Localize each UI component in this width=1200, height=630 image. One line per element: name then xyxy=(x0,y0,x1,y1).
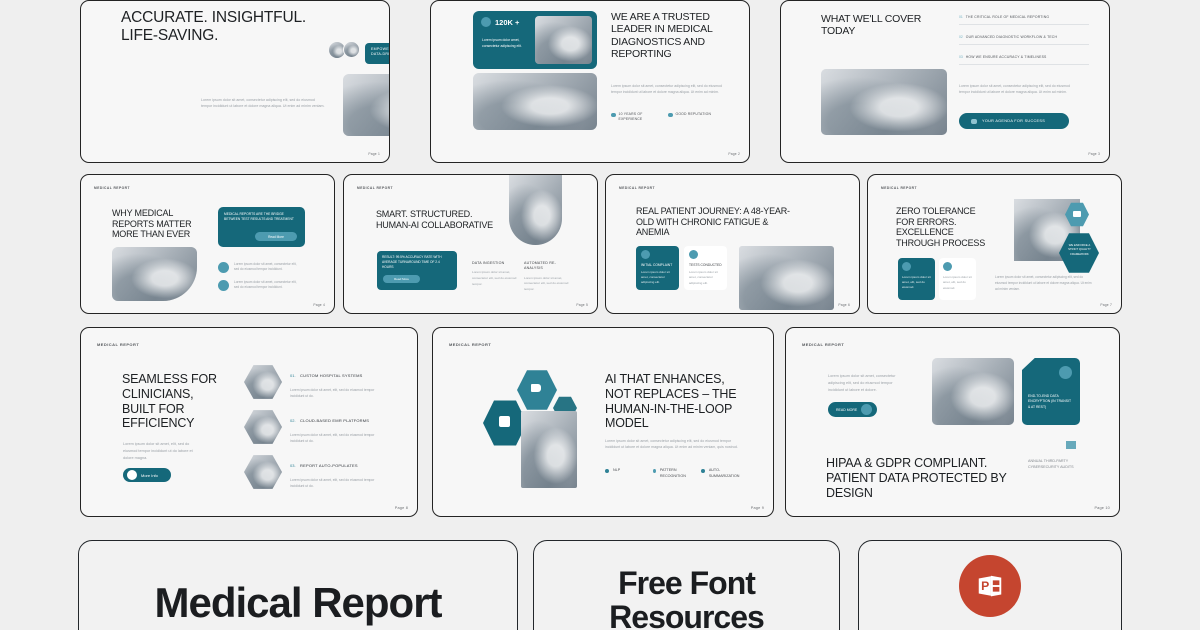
slide-5-page-number: Page 5 xyxy=(576,303,588,307)
slide-9-title: AI THAT ENHANCES, NOT REPLACES – THE HUM… xyxy=(605,372,740,431)
slide-3-agenda-label-1: THE CRITICAL ROLE OF MEDICAL REPORTING xyxy=(966,15,1049,19)
slide-8-feature-3-num: 03. xyxy=(290,463,296,468)
slide-7-hex-label: WE ENFORCE A STRICT QUALITY FRAMEWORK xyxy=(1067,243,1092,256)
slide-6-title: REAL PATIENT JOURNEY: A 48-YEAR-OLD WITH… xyxy=(636,206,801,238)
slide-4-bullet-1-text: Lorem ipsum dolor sit amet, consectetur … xyxy=(234,262,300,273)
slide-4-card-button[interactable]: Read More xyxy=(255,232,297,241)
slide-3-agenda-item-1[interactable]: 01 THE CRITICAL ROLE OF MEDICAL REPORTIN… xyxy=(959,15,1089,25)
slide-10-shape xyxy=(1022,358,1080,425)
slide-8-feature-2-image xyxy=(244,409,282,445)
slide-8-feature-3-label: REPORT AUTO-POPULATES xyxy=(300,463,358,468)
slide-card-1[interactable]: ACCURATE. INSIGHTFUL. LIFE-SAVING. EMPOW… xyxy=(80,0,390,163)
slide-card-8[interactable]: MEDICAL REPORT SEAMLESS FOR CLINICIANS, … xyxy=(80,327,418,517)
slide-1-avatar-2 xyxy=(343,41,360,58)
slide-2-tag-1-label: 10 YEARS OF EXPERIENCE xyxy=(619,112,659,123)
slide-4-card-button-label: Read More xyxy=(268,235,284,239)
slide-6-card-2-text: Lorem ipsum dolor sit amet, consectetur … xyxy=(689,270,722,286)
slide-8-body: Lorem ipsum dolor sit amet, elit, sed do… xyxy=(123,441,203,461)
slide-card-4[interactable]: MEDICAL REPORT WHY MEDICAL REPORTS MATTE… xyxy=(80,174,335,314)
slide-6-card-2-heading: TESTS CONDUCTED xyxy=(689,263,722,267)
slide-5-kicker: MEDICAL REPORT xyxy=(357,186,393,190)
slide-3-divider-1 xyxy=(959,24,1089,25)
slide-10-read-more-label: READ MORE xyxy=(836,408,857,412)
slide-2-photo-1 xyxy=(535,16,592,64)
slide-10-page-number: Page 10 xyxy=(1094,506,1110,510)
slide-8-title: SEAMLESS FOR CLINICIANS, BUILT FOR EFFIC… xyxy=(122,372,226,431)
slide-9-kicker: MEDICAL REPORT xyxy=(449,342,491,347)
slide-2-tag-1: 10 YEARS OF EXPERIENCE xyxy=(611,112,659,123)
slide-8-feature-1-label: CUSTOM HOSPITAL SYSTEMS xyxy=(300,373,363,378)
slide-4-page-number: Page 4 xyxy=(313,303,325,307)
slide-10-body: Lorem ipsum dolor sit amet, consectetur … xyxy=(828,373,902,393)
slide-card-6[interactable]: MEDICAL REPORT REAL PATIENT JOURNEY: A 4… xyxy=(605,174,860,314)
slide-6-page-number: Page 6 xyxy=(838,303,850,307)
slide-2-body: Lorem ipsum dolor sit amet, consectetur … xyxy=(611,83,726,96)
slide-card-5[interactable]: MEDICAL REPORT SMART. STRUCTURED. HUMAN-… xyxy=(343,174,598,314)
slide-9-photo xyxy=(521,411,577,488)
slide-4-card-text: MEDICAL REPORTS ARE THE BRIDGE BETWEEN T… xyxy=(224,212,296,223)
slide-7-card-1-icon xyxy=(902,262,911,271)
slide-1-badge-label: EMPOWERING HEALTHCARE THROUGH DATA-DRIVE… xyxy=(371,47,390,57)
slide-9-body: Lorem ipsum dolor sit amet, consectetur … xyxy=(605,438,738,451)
slide-4-kicker: MEDICAL REPORT xyxy=(94,186,130,190)
lock-icon xyxy=(1059,366,1072,379)
slide-10-shape-label: END-TO-END DATA ENCRYPTION (IN TRANSIT &… xyxy=(1028,394,1074,410)
slide-7-card-1-text: Lorem ipsum dolor sit amet, elit, sed do… xyxy=(902,275,931,290)
slide-3-page-number: Page 3 xyxy=(1088,152,1100,156)
stethoscope-icon xyxy=(218,280,229,291)
slide-8-feature-1: 01. CUSTOM HOSPITAL SYSTEMS Lorem ipsum … xyxy=(244,364,378,400)
slide-10-side-label: ANNUAL THIRD-PARTY CYBERSECURITY AUDITS xyxy=(1028,458,1076,471)
slide-5-column-2-heading: AUTOMATED RE-ANALYSIS xyxy=(524,261,572,272)
slide-8-feature-2-num: 02. xyxy=(290,418,296,423)
slide-9-bullet-2-label: PATTERN RECOGNITION xyxy=(660,468,691,479)
slide-card-7[interactable]: MEDICAL REPORT ZERO TOLERANCE FOR ERRORS… xyxy=(867,174,1122,314)
promo-title-medical-report: Medical Report xyxy=(154,581,441,626)
slide-10-kicker: MEDICAL REPORT xyxy=(802,342,844,347)
slide-3-photo xyxy=(821,69,947,135)
slide-5-title: SMART. STRUCTURED. HUMAN-AI COLLABORATIV… xyxy=(376,209,496,230)
slide-8-feature-2-label: CLOUD-BASED EMR PLATFORMS xyxy=(300,418,369,423)
slide-10-photo xyxy=(932,358,1014,425)
slide-9-bullet-3-dot xyxy=(701,469,705,473)
slide-3-agenda-num-1: 01 xyxy=(959,15,963,19)
slide-5-column-2-text: Lorem ipsum dolor sit amet, consectetur … xyxy=(524,276,572,293)
slide-3-divider-2 xyxy=(959,44,1089,45)
slide-4-bullet-2-text: Lorem ipsum dolor sit amet, consectetur … xyxy=(234,280,300,291)
slide-10-read-more-button[interactable]: READ MORE xyxy=(828,402,877,417)
slide-2-tag-2-label: GOOD REPUTATION xyxy=(676,112,726,117)
slide-8-feature-1-image xyxy=(244,364,282,400)
slide-6-card-1-heading: INITIAL COMPLAINT xyxy=(641,263,672,267)
play-circle-icon xyxy=(861,404,872,415)
slide-5-column-2: AUTOMATED RE-ANALYSIS Lorem ipsum dolor … xyxy=(524,261,572,292)
promo-title-free-fonts: Free Font Resources xyxy=(572,567,802,630)
slide-7-kicker: MEDICAL REPORT xyxy=(881,186,917,190)
slide-9-bullet-2-dot xyxy=(653,469,656,473)
slide-1-title: ACCURATE. INSIGHTFUL. LIFE-SAVING. xyxy=(121,9,311,46)
slide-1-body: Lorem ipsum dolor sit amet, consectetur … xyxy=(201,97,326,110)
promo-card-powerpoint[interactable]: P Powerpoint xyxy=(858,540,1122,630)
folder-icon xyxy=(1073,211,1081,217)
slide-card-2[interactable]: 120K + Lorem ipsum dolor amet, consectet… xyxy=(430,0,750,163)
slide-8-kicker: MEDICAL REPORT xyxy=(97,342,139,347)
slide-8-feature-3-text: Lorem ipsum dolor sit amet, elit, sed do… xyxy=(290,477,378,489)
slide-5-photo xyxy=(509,175,562,245)
slide-1-photo xyxy=(343,74,390,136)
clipboard-icon xyxy=(218,262,229,273)
slide-8-page-number: Page 8 xyxy=(395,506,408,510)
slide-9-page-number: Page 9 xyxy=(751,506,764,510)
slide-3-agenda-label-2: OUR ADVANCED DIAGNOSTIC WORKFLOW & TECH xyxy=(966,35,1057,39)
slide-7-title: ZERO TOLERANCE FOR ERRORS. EXCELLENCE TH… xyxy=(896,206,992,248)
slide-6-card-1-text: Lorem ipsum dolor sit amet, consectetur … xyxy=(641,270,674,285)
slide-3-cta-button[interactable]: YOUR AGENDA FOR SUCCESS xyxy=(959,113,1069,129)
slide-6-kicker: MEDICAL REPORT xyxy=(619,186,655,190)
slide-3-agenda-label-3: HOW WE ENSURE ACCURACY & TIMELINESS xyxy=(966,55,1047,59)
slide-9-bullet-1-dot xyxy=(605,469,609,473)
slide-2-stat-caption: Lorem ipsum dolor amet, consectetur adip… xyxy=(482,37,530,50)
slide-7-card-2-text: Lorem ipsum dolor sit amet, elit, sed do… xyxy=(943,275,972,291)
chat-icon xyxy=(971,119,977,124)
slide-2-stat-value: 120K + xyxy=(495,18,519,27)
slide-9-bullets: NLP PATTERN RECOGNITION AUTO-SUMMARIZATI… xyxy=(605,468,749,479)
slide-3-body: Lorem ipsum dolor sit amet, consectetur … xyxy=(959,83,1071,96)
slide-3-agenda-item-2[interactable]: 02 OUR ADVANCED DIAGNOSTIC WORKFLOW & TE… xyxy=(959,35,1089,45)
slide-card-9[interactable]: MEDICAL REPORT AI THAT ENHANCES, NOT REP… xyxy=(432,327,774,517)
slide-8-feature-2: 02. CLOUD-BASED EMR PLATFORMS Lorem ipsu… xyxy=(244,409,378,445)
slide-6-photo xyxy=(739,246,834,310)
slide-9-bullet-1-label: NLP xyxy=(613,468,620,479)
slide-2-photo-2 xyxy=(473,73,597,130)
slide-7-body: Lorem ipsum dolor sit amet, consectetur … xyxy=(995,275,1095,292)
chart-icon xyxy=(1066,441,1076,449)
slide-8-feature-3: 03. REPORT AUTO-POPULATES Lorem ipsum do… xyxy=(244,454,378,490)
slide-5-card-text: RESULT: 99.5% ACCURACY RATE WITH AVERAGE… xyxy=(382,255,450,270)
slide-10-title: HIPAA & GDPR COMPLIANT. PATIENT DATA PRO… xyxy=(826,456,1016,500)
play-icon xyxy=(127,470,137,480)
slide-2-tag-2-dot xyxy=(668,113,673,118)
slide-7-card-2-icon xyxy=(943,262,952,271)
slide-4-bullet-1: Lorem ipsum dolor sit amet, consectetur … xyxy=(218,262,300,273)
slide-3-cta-label: YOUR AGENDA FOR SUCCESS xyxy=(982,119,1045,123)
slide-5-card-button[interactable]: Read More xyxy=(383,275,420,283)
powerpoint-icon: P xyxy=(959,555,1021,617)
slide-1-badge: EMPOWERING HEALTHCARE THROUGH DATA-DRIVE… xyxy=(365,43,390,64)
slide-8-feature-1-text: Lorem ipsum dolor sit amet, elit, sed do… xyxy=(290,387,378,399)
slide-2-stat-icon xyxy=(481,17,491,27)
slide-7-page-number: Page 7 xyxy=(1100,303,1112,307)
svg-text:P: P xyxy=(981,579,989,593)
slide-8-feature-3-image xyxy=(244,454,282,490)
slide-2-title: WE ARE A TRUSTED LEADER IN MEDICAL DIAGN… xyxy=(611,11,729,61)
promo-card-medical-report[interactable]: Medical Report xyxy=(78,540,518,630)
thumbs-up-icon xyxy=(499,416,510,427)
slide-6-card-1-icon xyxy=(641,250,650,259)
slide-8-more-info-label: More Info xyxy=(141,473,158,478)
slide-8-more-info-button[interactable]: More Info xyxy=(123,468,171,482)
slide-8-feature-1-num: 01. xyxy=(290,373,296,378)
flag-icon xyxy=(531,384,541,392)
slide-card-3[interactable]: WHAT WE'LL COVER TODAY 01 THE CRITICAL R… xyxy=(780,0,1110,163)
slide-3-title: WHAT WE'LL COVER TODAY xyxy=(821,13,951,38)
slide-2-tag-2: GOOD REPUTATION xyxy=(668,112,726,117)
slide-2-tag-1-dot xyxy=(611,113,616,118)
template-preview-page: ACCURATE. INSIGHTFUL. LIFE-SAVING. EMPOW… xyxy=(0,0,1200,630)
slide-3-agenda-num-2: 02 xyxy=(959,35,963,39)
slide-5-column-1: DATA INGESTION Lorem ipsum dolor sit ame… xyxy=(472,261,517,287)
slide-4-title: WHY MEDICAL REPORTS MATTER MORE THAN EVE… xyxy=(112,208,207,240)
slide-5-card-button-label: Read More xyxy=(394,277,409,281)
slide-card-10[interactable]: MEDICAL REPORT Lorem ipsum dolor sit ame… xyxy=(785,327,1120,517)
slide-4-photo xyxy=(112,247,197,301)
slide-6-card-2-icon xyxy=(689,250,698,259)
slide-3-divider-3 xyxy=(959,64,1089,65)
slide-5-column-1-text: Lorem ipsum dolor sit amet, consectetur … xyxy=(472,270,517,287)
slide-5-column-1-heading: DATA INGESTION xyxy=(472,261,517,266)
slide-3-agenda-num-3: 03 xyxy=(959,55,963,59)
slide-2-page-number: Page 2 xyxy=(728,152,740,156)
slide-8-feature-2-text: Lorem ipsum dolor sit amet, elit, sed do… xyxy=(290,432,378,444)
slide-1-page-number: Page 1 xyxy=(368,152,380,156)
slide-3-agenda-item-3[interactable]: 03 HOW WE ENSURE ACCURACY & TIMELINESS xyxy=(959,55,1089,65)
promo-card-free-fonts[interactable]: Free Font Resources xyxy=(533,540,840,630)
slide-9-bullet-3-label: AUTO-SUMMARIZATION xyxy=(709,468,749,479)
slide-4-bullet-2: Lorem ipsum dolor sit amet, consectetur … xyxy=(218,280,300,291)
